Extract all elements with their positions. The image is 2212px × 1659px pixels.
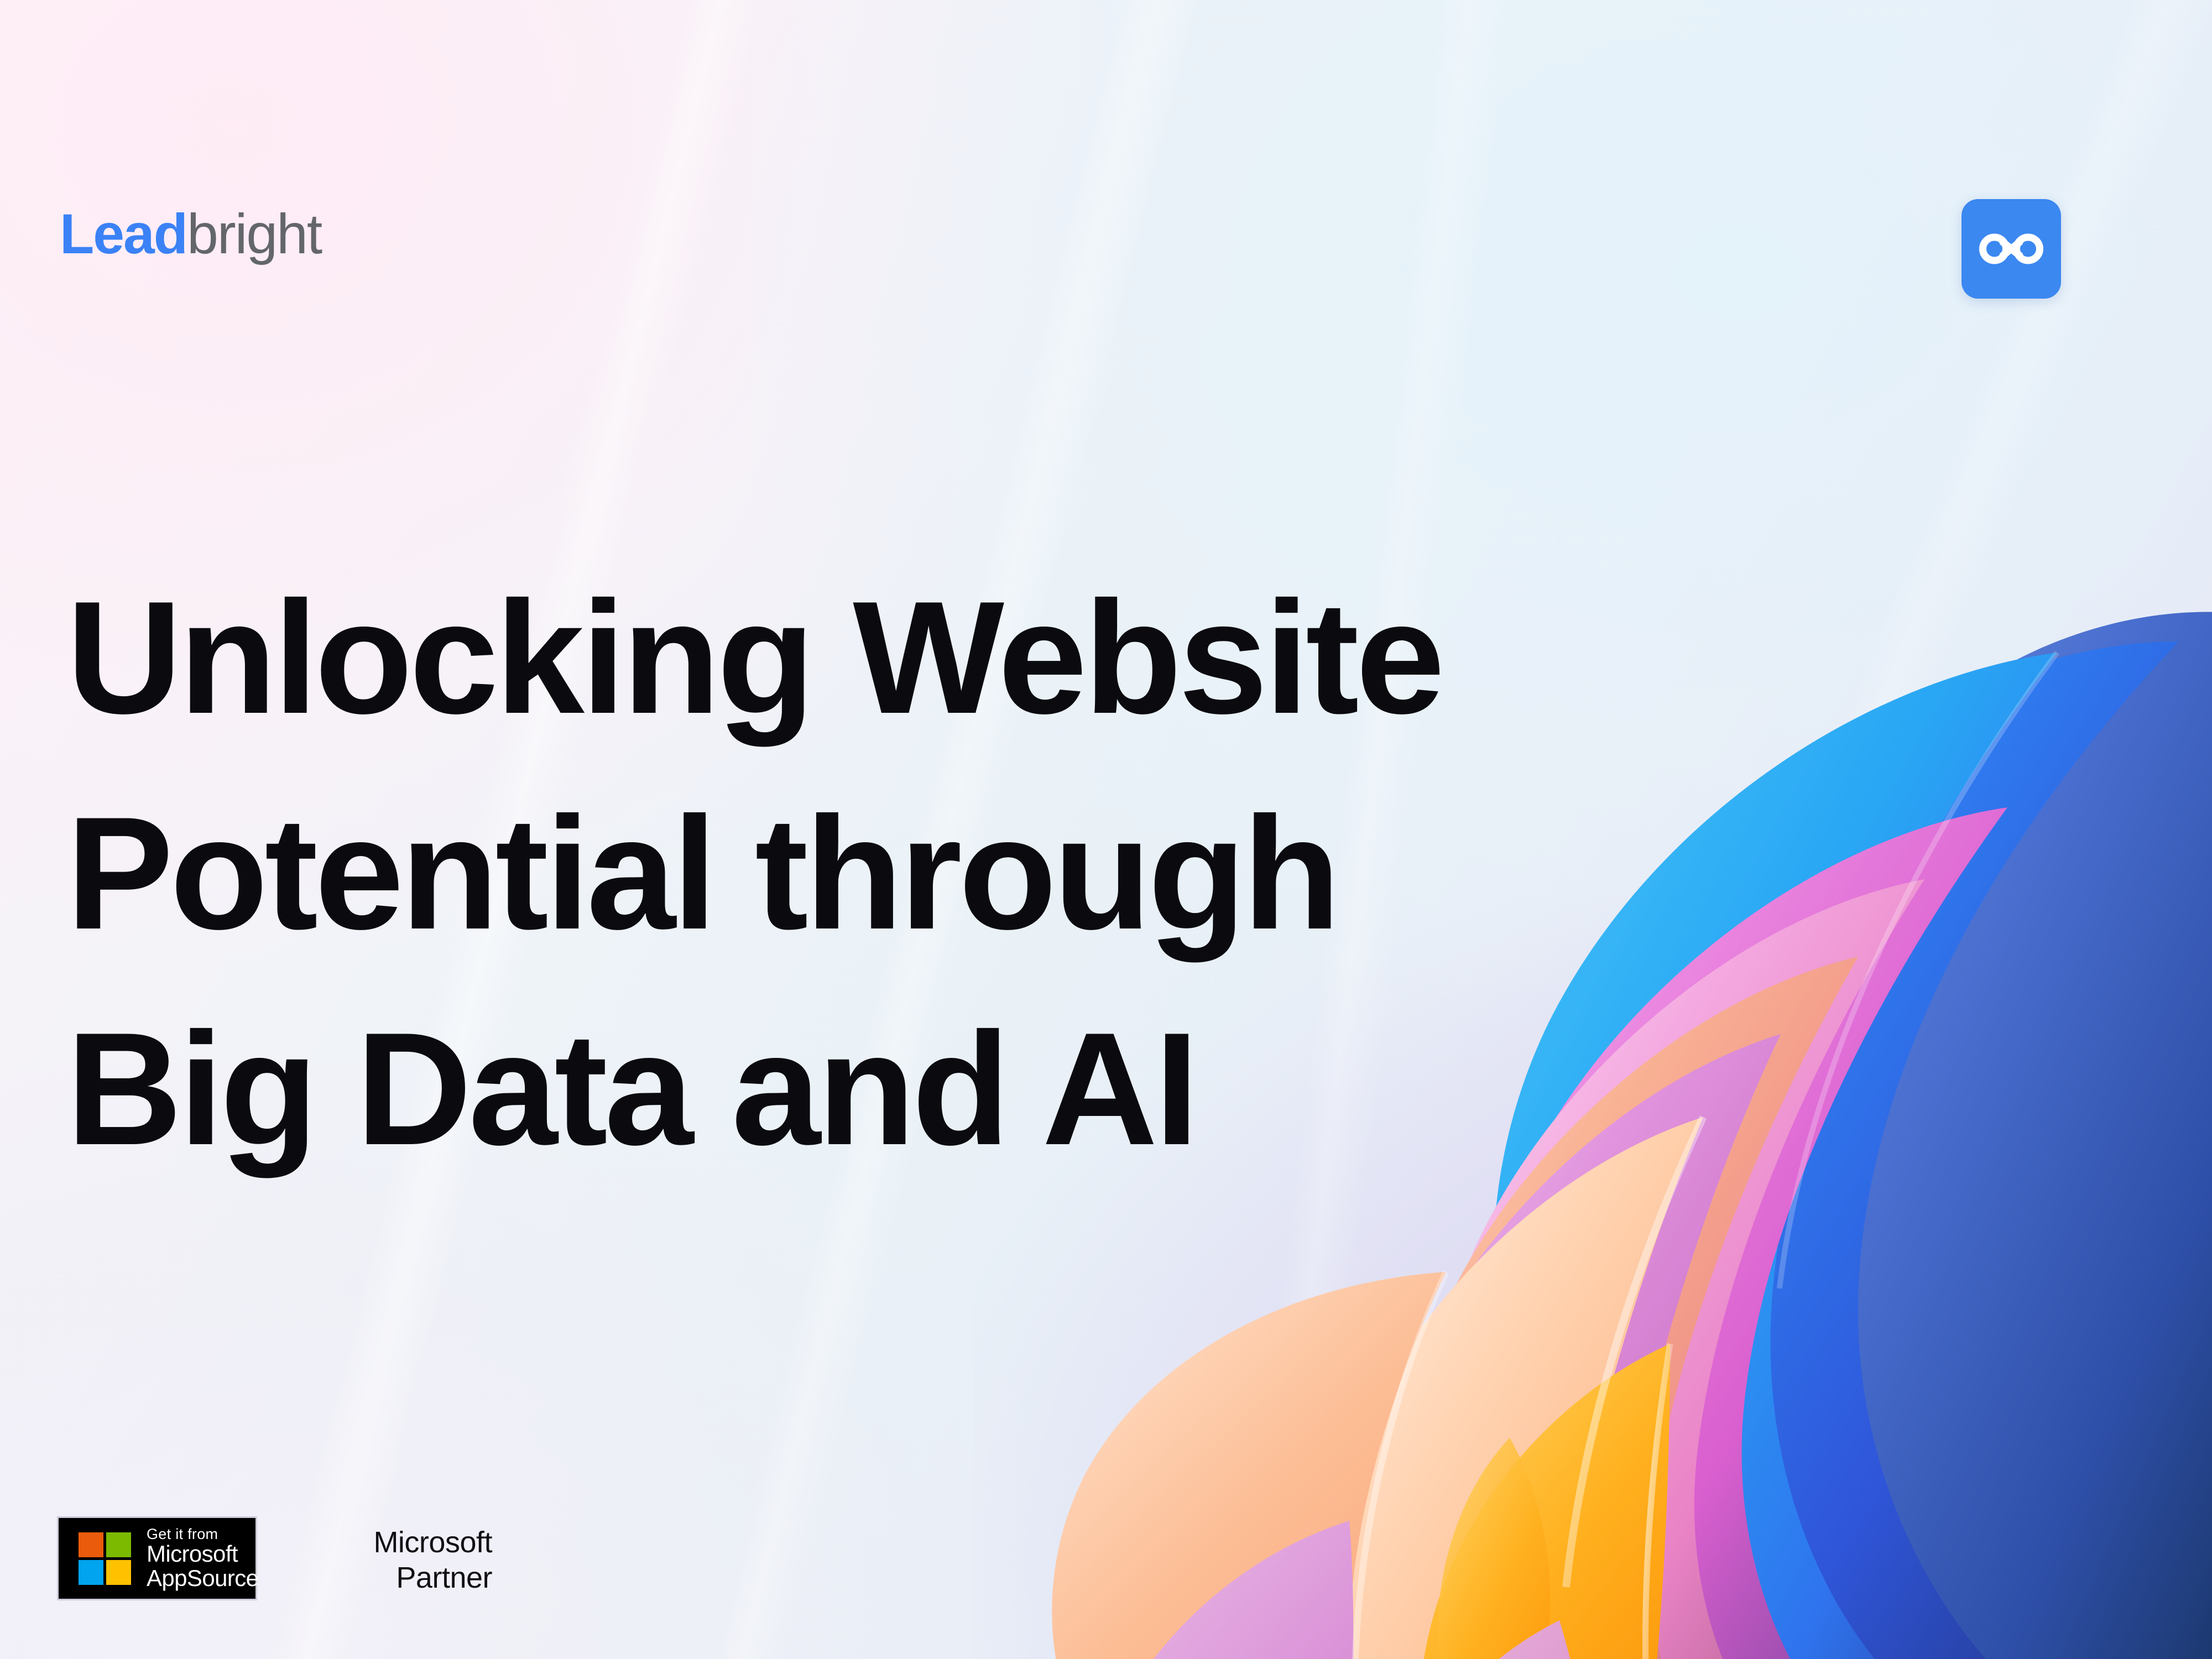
microsoft-appsource-badge[interactable]: Get it from Microsoft AppSource [57, 1516, 257, 1600]
microsoft-tile-yellow [106, 1560, 131, 1585]
microsoft-partner-line-1: Microsoft [310, 1525, 492, 1561]
microsoft-partner-lockup: Microsoft Partner [310, 1525, 492, 1595]
slide-title-line-2: Potential through [66, 765, 1725, 981]
infinity-icon [1979, 232, 2044, 266]
microsoft-partner-line-2: Partner [310, 1561, 492, 1596]
appsource-brand-line-1: Microsoft [147, 1542, 258, 1566]
brand-logo[interactable]: Leadbright [60, 206, 321, 262]
app-icon-button[interactable] [1961, 199, 2061, 299]
slide-title: Unlocking Website Potential through Big … [66, 550, 1725, 1197]
appsource-get-it-from: Get it from [147, 1526, 258, 1542]
appsource-brand-line-2: AppSource [147, 1566, 258, 1590]
microsoft-tile-green [106, 1532, 131, 1557]
appsource-badge-text: Get it from Microsoft AppSource [147, 1526, 258, 1590]
slide-title-line-3: Big Data and AI [66, 981, 1725, 1197]
microsoft-tile-blue [79, 1560, 103, 1585]
presentation-slide: Leadbright Unlocking Website Potential t… [0, 0, 2212, 1659]
microsoft-logo-icon [79, 1532, 131, 1585]
brand-logo-lead: Lead [60, 202, 187, 265]
slide-title-line-1: Unlocking Website [66, 550, 1725, 765]
brand-logo-bright: bright [187, 202, 321, 265]
microsoft-tile-orange [79, 1532, 103, 1557]
